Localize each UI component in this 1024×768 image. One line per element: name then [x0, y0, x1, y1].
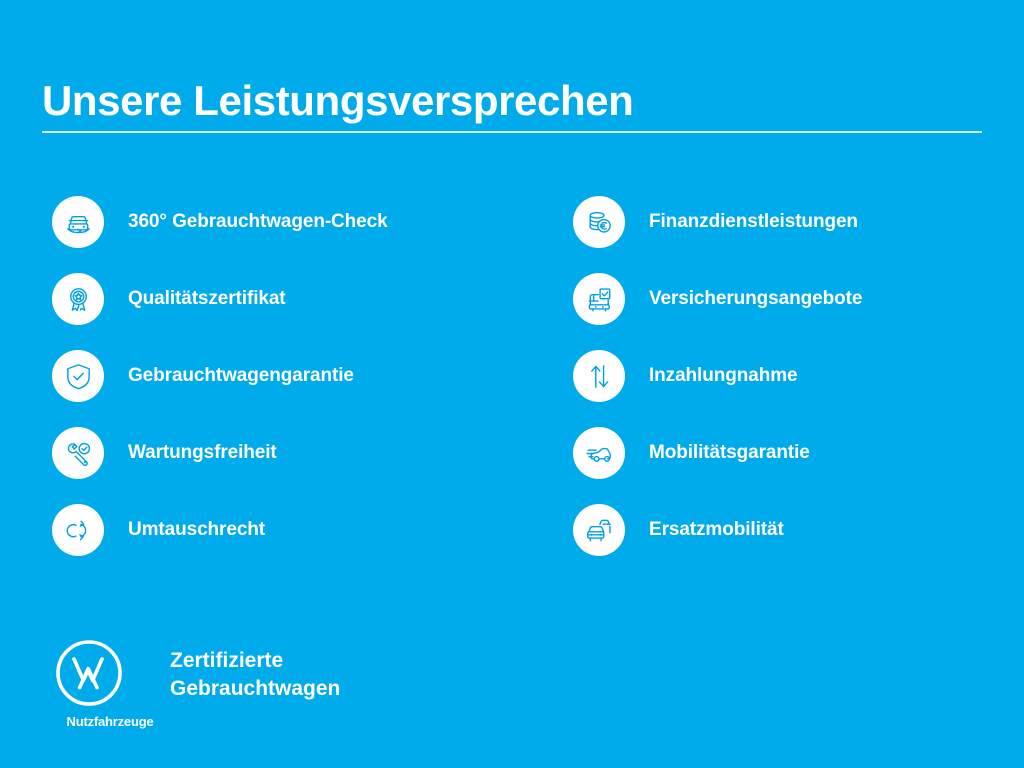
up-down-arrows-icon [573, 350, 625, 402]
benefit-item-inzahlungnahme[interactable]: Inzahlungnahme [573, 350, 1003, 427]
shield-check-icon [52, 350, 104, 402]
benefit-label: Ersatzmobilität [649, 504, 784, 556]
brand-claim-line-2: Gebrauchtwagen [170, 675, 340, 703]
car-360-check-icon [52, 196, 104, 248]
benefit-item-qualitaetszertifikat[interactable]: Qualitätszertifikat [52, 273, 522, 350]
benefit-item-mobilitaetsgarantie[interactable]: Mobilitätsgarantie [573, 427, 1003, 504]
benefit-item-wartungsfreiheit[interactable]: Wartungsfreiheit [52, 427, 522, 504]
benefit-label: Qualitätszertifikat [128, 273, 286, 325]
page-title: Unsere Leistungsversprechen [42, 78, 633, 123]
benefit-item-finanzdienstleistungen[interactable]: Finanzdienstleistungen [573, 196, 1003, 273]
brand-claim: Zertifizierte Gebrauchtwagen [170, 647, 340, 703]
benefit-label: Gebrauchtwagengarantie [128, 350, 354, 402]
benefit-label: Inzahlungnahme [649, 350, 798, 402]
benefit-item-gebrauchtwagengarantie[interactable]: Gebrauchtwagengarantie [52, 350, 522, 427]
slide-root: Unsere Leistungsversprechen 360° G [0, 0, 1024, 768]
benefit-label: Finanzdienstleistungen [649, 196, 858, 248]
benefits-right-column: Finanzdienstleistungen [573, 196, 1003, 581]
brand-footer: Nutzfahrzeuge Zertifizierte Gebrauchtwag… [54, 638, 654, 738]
wrench-magnifier-check-icon [52, 427, 104, 479]
brand-claim-line-1: Zertifizierte [170, 647, 340, 675]
two-cars-icon [573, 504, 625, 556]
brand-subtitle: Nutzfahrzeuge [54, 714, 166, 729]
benefit-item-ersatzmobilitaet[interactable]: Ersatzmobilität [573, 504, 1003, 581]
benefit-label: Mobilitätsgarantie [649, 427, 810, 479]
award-rosette-icon [52, 273, 104, 325]
benefit-item-versicherungsangebote[interactable]: Versicherungsangebote [573, 273, 1003, 350]
benefit-label: 360° Gebrauchtwagen-Check [128, 196, 388, 248]
benefit-label: Versicherungsangebote [649, 273, 862, 325]
car-speed-lines-icon [573, 427, 625, 479]
benefit-label: Wartungsfreiheit [128, 427, 277, 479]
exchange-arrows-icon [52, 504, 104, 556]
title-divider [42, 131, 982, 133]
benefit-item-360-check[interactable]: 360° Gebrauchtwagen-Check [52, 196, 522, 273]
benefit-item-umtauschrecht[interactable]: Umtauschrecht [52, 504, 522, 581]
coins-euro-icon [573, 196, 625, 248]
car-checkbox-icon [573, 273, 625, 325]
benefits-left-column: 360° Gebrauchtwagen-Check Qualitätszerti… [52, 196, 522, 581]
volkswagen-logo-icon [54, 638, 124, 708]
benefit-label: Umtauschrecht [128, 504, 265, 556]
